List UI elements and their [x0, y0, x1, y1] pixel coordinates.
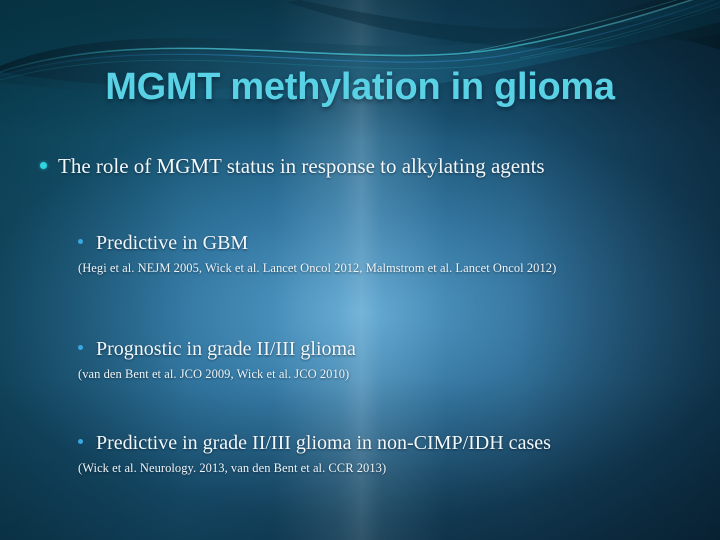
- sub-bullet-dot-icon: [78, 239, 83, 244]
- sub-bullet-item: Prognostic in grade II/III glioma (van d…: [76, 336, 684, 383]
- sub-bullet-item: Predictive in GBM (Hegi et al. NEJM 2005…: [76, 230, 684, 277]
- sub-bullet-dot-icon: [78, 345, 83, 350]
- sub-bullet-citation: (Wick et al. Neurology. 2013, van den Be…: [78, 460, 684, 477]
- main-bullet-text: The role of MGMT status in response to a…: [58, 154, 545, 178]
- sub-bullet-citation: (van den Bent et al. JCO 2009, Wick et a…: [78, 366, 684, 383]
- slide-body: The role of MGMT status in response to a…: [36, 152, 684, 532]
- sub-bullet-item: Predictive in grade II/III glioma in non…: [76, 430, 684, 477]
- sub-bullet-dot-icon: [78, 439, 83, 444]
- sub-bullet-citation: (Hegi et al. NEJM 2005, Wick et al. Lanc…: [78, 260, 684, 277]
- sub-bullet-heading: Predictive in GBM: [96, 230, 684, 257]
- bullet-dot-icon: [40, 162, 47, 169]
- slide-title: MGMT methylation in glioma: [0, 66, 720, 109]
- main-bullet-item: The role of MGMT status in response to a…: [36, 152, 684, 182]
- presentation-slide: MGMT methylation in glioma The role of M…: [0, 0, 720, 540]
- sub-bullet-heading: Predictive in grade II/III glioma in non…: [96, 430, 684, 457]
- sub-bullet-heading: Prognostic in grade II/III glioma: [96, 336, 684, 363]
